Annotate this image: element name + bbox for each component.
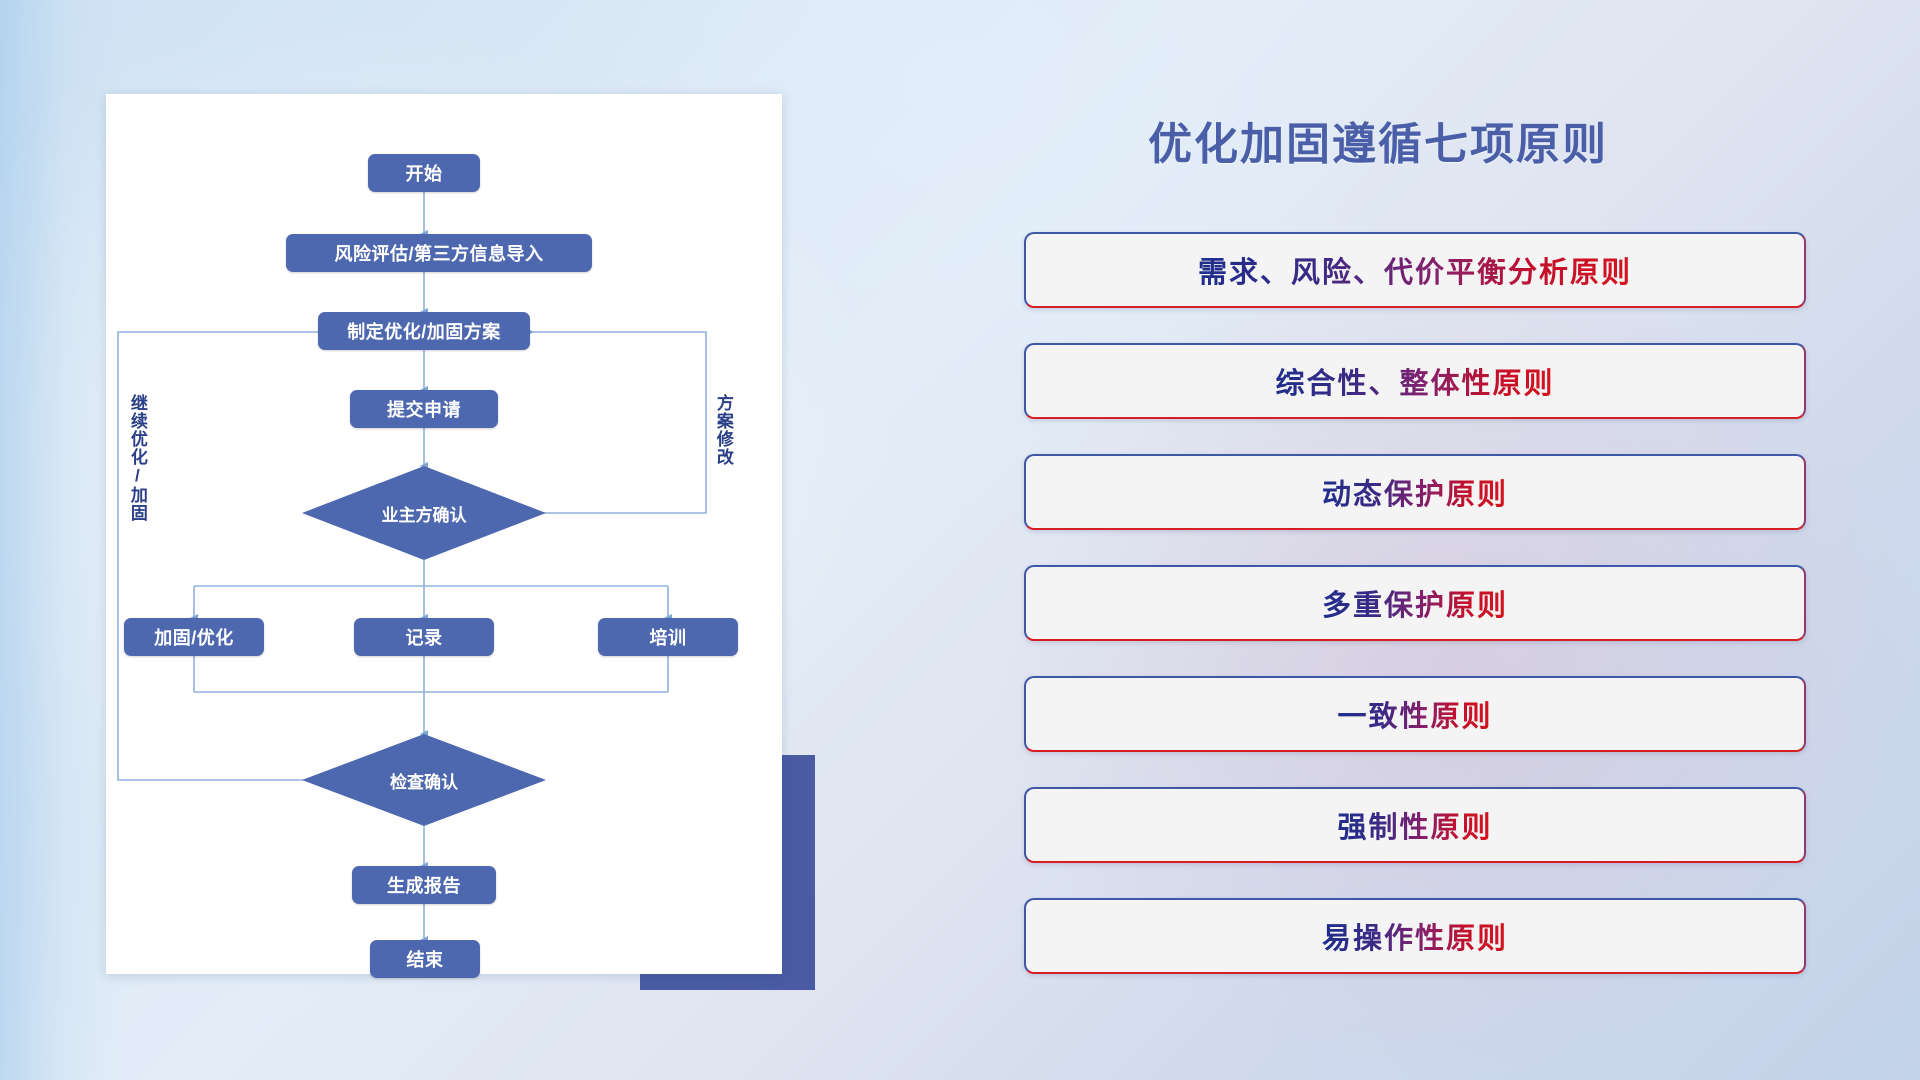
- flow-node-assess[interactable]: 风险评估/第三方信息导入: [286, 234, 592, 272]
- flow-node-report[interactable]: 生成报告: [352, 866, 496, 904]
- principle-item-4[interactable]: 多重保护原则: [1024, 565, 1806, 641]
- flow-node-plan[interactable]: 制定优化/加固方案: [318, 312, 530, 350]
- principle-label: 多重保护原则: [1322, 582, 1508, 624]
- edge-label-right-loop: 方案修改: [714, 394, 732, 466]
- flow-node-submit[interactable]: 提交申请: [350, 390, 498, 428]
- flow-node-reinforce[interactable]: 加固/优化: [124, 618, 264, 656]
- principle-item-2[interactable]: 综合性、整体性原则: [1024, 343, 1806, 419]
- principle-label: 易操作性原则: [1322, 915, 1508, 957]
- principles-panel: 优化加固遵循七项原则 需求、风险、代价平衡分析原则 综合性、整体性原则 动态保护…: [1020, 0, 1880, 1080]
- principle-item-1[interactable]: 需求、风险、代价平衡分析原则: [1024, 232, 1806, 308]
- principle-item-7[interactable]: 易操作性原则: [1024, 898, 1806, 974]
- principle-label: 需求、风险、代价平衡分析原则: [1198, 249, 1632, 291]
- flow-node-start[interactable]: 开始: [368, 154, 480, 192]
- flow-node-end[interactable]: 结束: [370, 940, 480, 978]
- flowchart-card: 继续优化/加固 方案修改 开始 风险评估/第三方信息导入 制定优化/加固方案 提…: [106, 94, 782, 974]
- principle-item-3[interactable]: 动态保护原则: [1024, 454, 1806, 530]
- edge-label-left-loop: 继续优化/加固: [128, 394, 146, 522]
- principle-label: 综合性、整体性原则: [1275, 360, 1554, 402]
- principle-item-6[interactable]: 强制性原则: [1024, 787, 1806, 863]
- principle-label: 动态保护原则: [1322, 471, 1508, 513]
- slide-root: 继续优化/加固 方案修改 开始 风险评估/第三方信息导入 制定优化/加固方案 提…: [0, 0, 1920, 1080]
- principle-item-5[interactable]: 一致性原则: [1024, 676, 1806, 752]
- flow-node-record[interactable]: 记录: [354, 618, 494, 656]
- flow-node-train[interactable]: 培训: [598, 618, 738, 656]
- principle-label: 强制性原则: [1337, 804, 1492, 846]
- principle-label: 一致性原则: [1337, 693, 1492, 735]
- panel-title: 优化加固遵循七项原则: [1148, 108, 1608, 172]
